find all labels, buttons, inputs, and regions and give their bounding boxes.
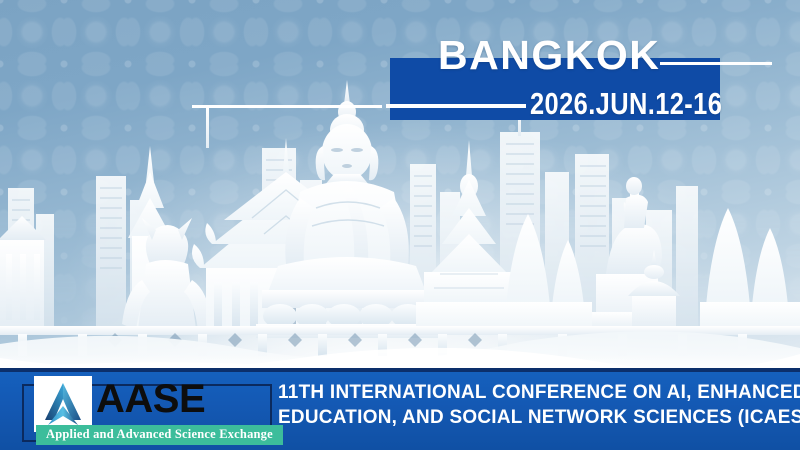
- conference-title-line-1: 11TH INTERNATIONAL CONFERENCE ON AI, ENH…: [278, 380, 779, 405]
- conference-banner: BANGKOK 2026.JUN.12-16: [0, 0, 800, 450]
- headline-dates: 2026.JUN.12-16: [530, 86, 722, 122]
- aase-chevron-icon: [34, 376, 92, 432]
- aase-logo-lockup[interactable]: AASE Applied and Advanced Science Exchan…: [30, 374, 280, 444]
- conference-title-line-2: EDUCATION, AND SOCIAL NETWORK SCIENCES (…: [278, 405, 779, 430]
- democracy-monument: [700, 208, 800, 330]
- headline-city: BANGKOK: [438, 32, 660, 79]
- headline-rule-bottom-inner: [386, 104, 526, 108]
- aase-wordmark: AASE: [96, 376, 205, 422]
- conference-title: 11TH INTERNATIONAL CONFERENCE ON AI, ENH…: [278, 380, 794, 430]
- headline-rule-bottom: [192, 105, 382, 108]
- headline-rule-top: [660, 62, 772, 65]
- aase-tagline: Applied and Advanced Science Exchange: [36, 425, 283, 445]
